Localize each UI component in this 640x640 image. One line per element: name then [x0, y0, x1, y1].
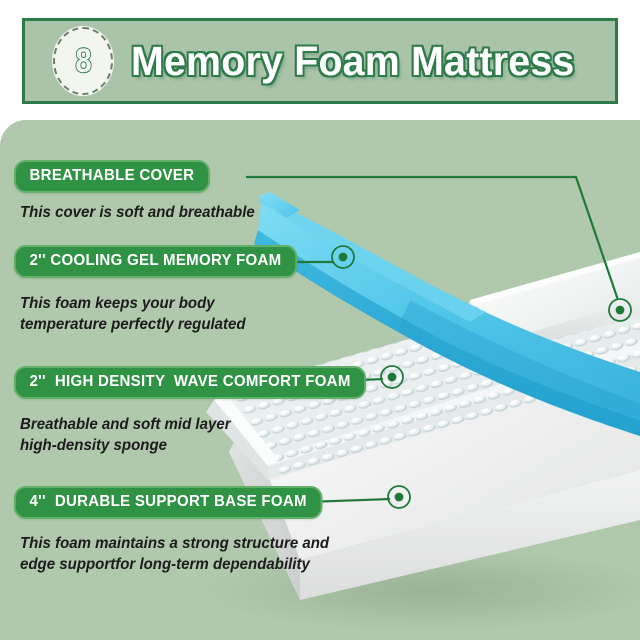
infographic-root: 8 Memory Foam Mattress — [0, 0, 640, 640]
callout-cooling-gel-memory-foam[interactable]: 2'' COOLING GEL MEMORY FOAM — [14, 245, 306, 278]
header-bar: 8 Memory Foam Mattress — [22, 18, 618, 104]
callout-durable-support-base-foam[interactable]: 4'' DURABLE SUPPORT BASE FOAM — [14, 486, 332, 519]
header-inner: 8 Memory Foam Mattress — [25, 21, 615, 101]
callout-description-durable-support-base-foam: This foam maintains a strong structure a… — [20, 533, 329, 576]
step-number-badge: 8 — [51, 25, 115, 97]
callout-description-breathable-cover: This cover is soft and breathable — [20, 202, 255, 223]
callout-label-breathable-cover[interactable]: BREATHABLE COVER — [14, 160, 210, 193]
callout-description-cooling-gel-memory-foam: This foam keeps your body temperature pe… — [20, 293, 246, 336]
badge-number-text: 8 — [75, 44, 91, 78]
callout-high-density-wave-comfort-foam[interactable]: 2'' HIGH DENSITY WAVE COMFORT FOAM — [14, 366, 377, 399]
callout-breathable-cover[interactable]: BREATHABLE COVER — [14, 160, 216, 193]
callout-label-cooling-gel-memory-foam[interactable]: 2'' COOLING GEL MEMORY FOAM — [14, 245, 297, 278]
callout-description-high-density-wave-comfort-foam: Breathable and soft mid layer high-densi… — [20, 414, 231, 457]
callout-label-high-density-wave-comfort-foam[interactable]: 2'' HIGH DENSITY WAVE COMFORT FOAM — [14, 366, 366, 399]
callout-label-durable-support-base-foam[interactable]: 4'' DURABLE SUPPORT BASE FOAM — [14, 486, 322, 519]
page-title: Memory Foam Mattress — [131, 38, 574, 85]
